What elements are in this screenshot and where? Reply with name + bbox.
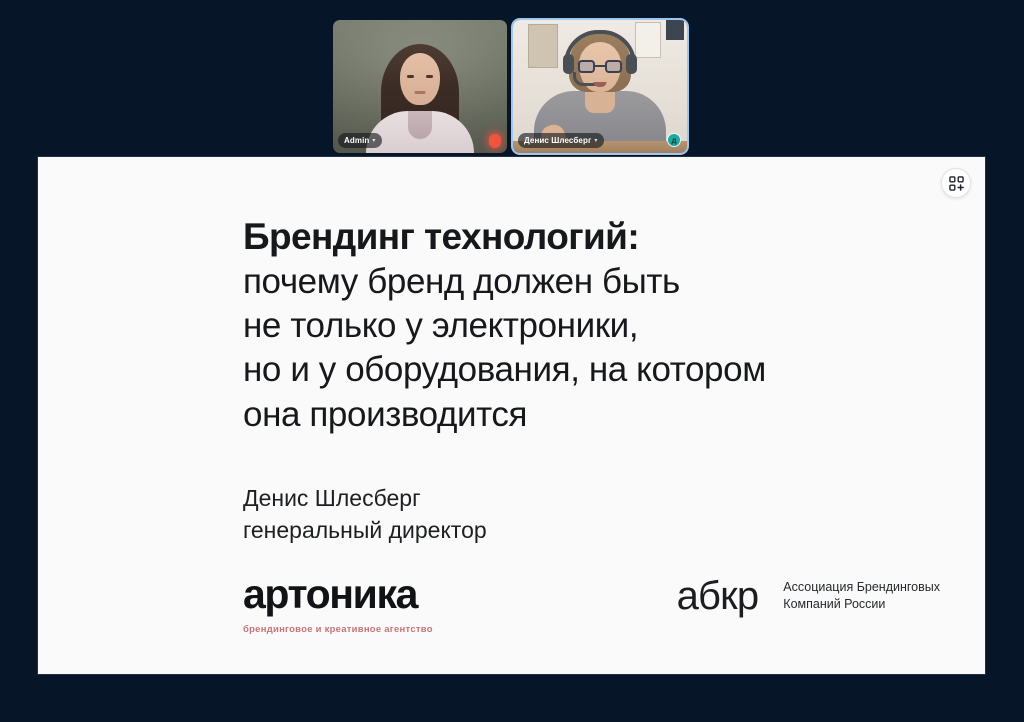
wall-picture-frame [635, 22, 661, 58]
lens-right [605, 60, 622, 73]
video-tile-strip: Admin ▾ Денис Шлесберг ▾ д [333, 20, 687, 153]
abkr-name-line: Ассоциация Брендинговых [783, 579, 940, 596]
wall-dark-panel [666, 20, 684, 40]
abkr-wordmark: абкр [677, 576, 759, 616]
abkr-logo: абкр Ассоциация Брендинговых Компаний Ро… [677, 576, 940, 616]
participant-name-label: Денис Шлесберг [524, 136, 591, 145]
abkr-name-line: Компаний России [783, 596, 940, 613]
participant-name-chip[interactable]: Admin ▾ [338, 133, 382, 148]
headset-earcup-right [626, 54, 637, 74]
wall-picture-frame [528, 24, 558, 68]
shared-slide: Брендинг технологий: почему бренд должен… [38, 157, 985, 674]
slide-subline-row: не только у электроники, [243, 304, 945, 348]
qr-code-add-icon[interactable] [941, 168, 971, 198]
speaker-name: Денис Шлесберг [243, 482, 945, 515]
eye-right [426, 75, 433, 78]
participant-name-label: Admin [344, 136, 369, 145]
slide-speaker-block: Денис Шлесберг генеральный директор [243, 482, 945, 547]
abkr-full-name: Ассоциация Брендинговых Компаний России [783, 579, 940, 613]
microphone-muted-icon [489, 134, 501, 148]
chevron-down-icon: ▾ [594, 138, 597, 144]
lens-left [578, 60, 595, 73]
speaker-role: генеральный директор [243, 514, 945, 547]
participant-neck [585, 91, 615, 113]
mouth [415, 91, 426, 94]
participant-collar [408, 111, 432, 139]
artonika-wordmark: артоника [243, 574, 433, 615]
slide-footer: артоника брендинговое и креативное агент… [243, 574, 960, 666]
chevron-down-icon: ▾ [372, 138, 375, 144]
participant-status-badge: д [667, 133, 681, 147]
eyeglasses [578, 60, 622, 73]
slide-subline-row: почему бренд должен быть [243, 260, 945, 304]
participant-face [400, 53, 440, 105]
slide-subline-row: она производится [243, 393, 945, 437]
video-tile-admin[interactable]: Admin ▾ [333, 20, 507, 153]
headset-boom-mic [573, 72, 595, 86]
glasses-bridge [595, 65, 605, 67]
slide-subline: почему бренд должен быть не только у эле… [243, 260, 945, 436]
video-tile-denis-shlesberg[interactable]: Денис Шлесберг ▾ д [513, 20, 687, 153]
participant-name-chip[interactable]: Денис Шлесберг ▾ [518, 133, 604, 148]
artonika-logo: артоника брендинговое и креативное агент… [243, 574, 433, 635]
artonika-tagline: брендинговое и креативное агентство [243, 624, 433, 635]
headset-earcup-left [563, 54, 574, 74]
slide-headline: Брендинг технологий: [243, 217, 945, 256]
slide-subline-row: но и у оборудования, на котором [243, 348, 945, 392]
eye-left [407, 75, 414, 78]
